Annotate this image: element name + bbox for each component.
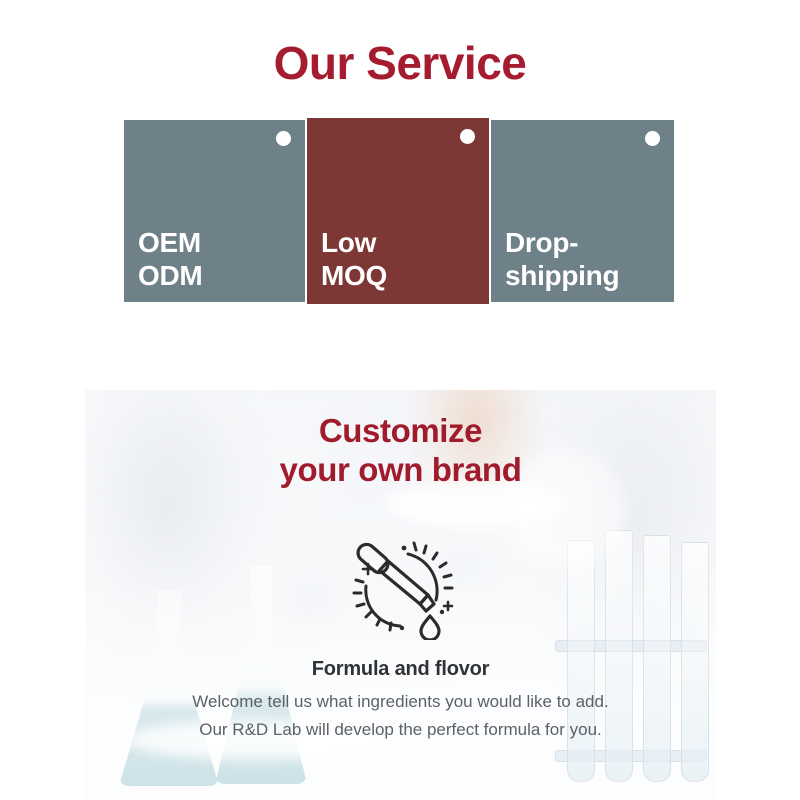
- service-panel-oem-odm[interactable]: OEM ODM: [124, 120, 305, 302]
- hero-banner: Customize your own brand: [85, 390, 716, 800]
- service-panel-label: Drop- shipping: [505, 226, 619, 292]
- punch-hole-icon: [276, 131, 291, 146]
- service-panel-label: Low MOQ: [321, 226, 387, 292]
- punch-hole-icon: [460, 129, 475, 144]
- service-panels: OEM ODM Low MOQ Drop- shipping: [124, 118, 674, 308]
- service-panel-low-moq[interactable]: Low MOQ: [307, 118, 489, 304]
- hero-body-text: Welcome tell us what ingredients you wou…: [85, 688, 716, 743]
- hero-subheading: Formula and flovor: [85, 658, 716, 681]
- service-panel-dropshipping[interactable]: Drop- shipping: [491, 120, 674, 302]
- dropper-icon: [338, 520, 478, 640]
- service-panel-label: OEM ODM: [138, 226, 202, 292]
- punch-hole-icon: [645, 131, 660, 146]
- page-title: Our Service: [0, 40, 800, 86]
- test-tube-shape: [605, 530, 633, 782]
- hero-heading: Customize your own brand: [85, 412, 716, 489]
